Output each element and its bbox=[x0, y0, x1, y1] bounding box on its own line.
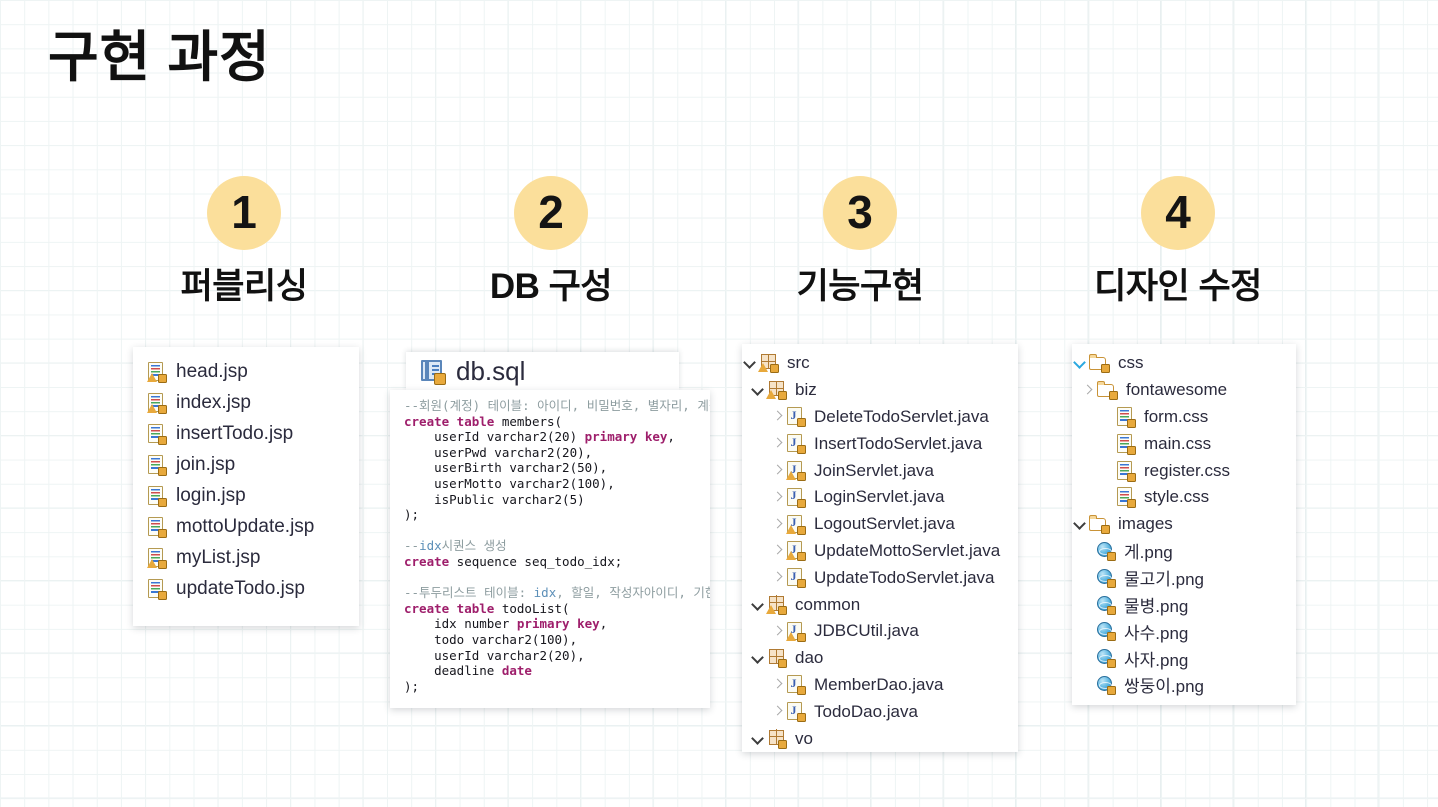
sql-code-line: userPwd varchar2(20), bbox=[404, 445, 710, 461]
sql-code-token: primary key bbox=[517, 616, 600, 631]
sql-code-token bbox=[404, 523, 412, 538]
sql-code-token: create table bbox=[404, 414, 494, 429]
step-badge-4: 4 bbox=[1141, 176, 1215, 250]
chevron-down-icon[interactable] bbox=[750, 650, 766, 666]
png-file-icon bbox=[1096, 648, 1116, 668]
sql-code-token: userId varchar2(20) bbox=[404, 429, 585, 444]
sql-code-line: deadline date bbox=[404, 663, 710, 679]
tree-item-label: MemberDao.java bbox=[814, 675, 943, 695]
tree-item-label: common bbox=[795, 595, 860, 615]
png-file-icon bbox=[1096, 541, 1116, 561]
sql-code-token: idx bbox=[534, 585, 557, 600]
png-file-icon bbox=[1096, 621, 1116, 641]
java-tree-row[interactable]: InsertTodoServlet.java bbox=[742, 430, 1018, 457]
java-file-icon bbox=[786, 406, 806, 427]
sql-code-line: userBirth varchar2(50), bbox=[404, 460, 710, 476]
jsp-file-name: myList.jsp bbox=[176, 547, 260, 569]
webapp-tree-row[interactable]: style.css bbox=[1072, 484, 1296, 511]
jsp-file-icon bbox=[147, 454, 167, 476]
step-badge-3: 3 bbox=[823, 176, 897, 250]
chevron-right-icon[interactable] bbox=[1080, 382, 1096, 398]
tree-item-label: css bbox=[1118, 353, 1144, 373]
webapp-tree-row[interactable]: 게.png bbox=[1072, 538, 1296, 565]
tree-item-label: DeleteTodoServlet.java bbox=[814, 407, 989, 427]
step-label-4: 디자인 수정 bbox=[1028, 258, 1328, 309]
tree-item-label: 물고기.png bbox=[1124, 565, 1204, 590]
sql-code-token: deadline bbox=[404, 663, 502, 678]
java-file-warning-icon bbox=[786, 540, 806, 561]
tree-item-label: form.css bbox=[1144, 407, 1208, 427]
sql-code-token: , 할일, 작성자아이디, 기한 bbox=[556, 585, 710, 600]
tree-item-label: biz bbox=[795, 380, 817, 400]
tree-item-label: UpdateTodoServlet.java bbox=[814, 568, 995, 588]
java-tree-row[interactable]: biz bbox=[742, 377, 1018, 404]
chevron-down-icon[interactable] bbox=[750, 597, 766, 613]
sql-code-token: idx bbox=[419, 538, 442, 553]
sql-code-token: --회원(계정) 테이블: 아이디, 비밀번호, 별자리, 계정 bbox=[404, 398, 710, 413]
jsp-file-icon bbox=[147, 485, 167, 507]
tree-item-label: JDBCUtil.java bbox=[814, 621, 919, 641]
sql-code-line: userId varchar2(20) primary key, bbox=[404, 429, 710, 445]
tree-item-label: UpdateMottoServlet.java bbox=[814, 541, 1000, 561]
no-chevron-icon bbox=[1100, 409, 1116, 425]
sql-code-block: --회원(계정) 테이블: 아이디, 비밀번호, 별자리, 계정create t… bbox=[404, 398, 710, 694]
chevron-right-icon[interactable] bbox=[770, 409, 786, 425]
webapp-tree-row[interactable]: 사수.png bbox=[1072, 618, 1296, 645]
sql-code-line: ); bbox=[404, 679, 710, 695]
jsp-file-row[interactable]: myList.jsp bbox=[133, 542, 359, 573]
sql-tab-title: db.sql bbox=[456, 356, 525, 387]
chevron-right-icon[interactable] bbox=[770, 543, 786, 559]
chevron-down-icon[interactable] bbox=[1072, 355, 1088, 371]
sql-code-line: --투두리스트 테이블: idx, 할일, 작성자아이디, 기한 bbox=[404, 585, 710, 601]
sql-code-token: --투두리스트 테이블: bbox=[404, 585, 534, 600]
package-icon bbox=[766, 729, 787, 749]
no-chevron-icon bbox=[1080, 650, 1096, 666]
chevron-right-icon[interactable] bbox=[770, 704, 786, 720]
step-label-1: 퍼블리싱 bbox=[94, 258, 394, 309]
step-header-1: 1 퍼블리싱 bbox=[94, 176, 394, 309]
no-chevron-icon bbox=[1100, 436, 1116, 452]
page-title: 구현 과정 bbox=[48, 26, 271, 89]
css-file-icon bbox=[1116, 406, 1136, 428]
no-chevron-icon bbox=[1100, 489, 1116, 505]
tree-item-label: style.css bbox=[1144, 487, 1209, 507]
java-tree-row[interactable]: TodoDao.java bbox=[742, 698, 1018, 725]
no-chevron-icon bbox=[1080, 623, 1096, 639]
sql-code-line: idx number primary key, bbox=[404, 616, 710, 632]
java-tree-row[interactable]: JDBCUtil.java bbox=[742, 618, 1018, 645]
sql-code-line: create table todoList( bbox=[404, 601, 710, 617]
java-tree-row[interactable]: src bbox=[742, 350, 1018, 377]
chevron-right-icon[interactable] bbox=[770, 463, 786, 479]
jsp-file-name: insertTodo.jsp bbox=[176, 423, 293, 445]
jsp-file-row[interactable]: updateTodo.jsp bbox=[133, 573, 359, 604]
sql-code-token: -- bbox=[404, 538, 419, 553]
step-label-2: DB 구성 bbox=[401, 258, 701, 309]
tree-item-label: LoginServlet.java bbox=[814, 487, 944, 507]
webapp-tree-row[interactable]: fontawesome bbox=[1072, 377, 1296, 404]
webapp-tree-row[interactable]: 쌍둥이.png bbox=[1072, 672, 1296, 699]
jsp-file-warning-icon bbox=[147, 392, 167, 414]
sql-code-line: isPublic varchar2(5) bbox=[404, 492, 710, 508]
tree-item-label: register.css bbox=[1144, 461, 1230, 481]
no-chevron-icon bbox=[1080, 570, 1096, 586]
jsp-file-icon bbox=[147, 578, 167, 600]
jsp-file-warning-icon bbox=[147, 547, 167, 569]
tree-item-label: vo bbox=[795, 729, 813, 749]
sql-file-icon bbox=[419, 358, 446, 385]
java-file-icon bbox=[786, 433, 806, 454]
sql-code-token: date bbox=[502, 663, 532, 678]
png-file-icon bbox=[1096, 568, 1116, 588]
sql-code-line: todo varchar2(100), bbox=[404, 632, 710, 648]
chevron-right-icon[interactable] bbox=[770, 516, 786, 532]
jsp-file-row[interactable]: mottoUpdate.jsp bbox=[133, 511, 359, 542]
tree-item-label: LogoutServlet.java bbox=[814, 514, 955, 534]
java-file-icon bbox=[786, 674, 806, 695]
sql-code-token: userPwd varchar2(20), bbox=[404, 445, 592, 460]
tree-item-label: 사수.png bbox=[1124, 619, 1188, 644]
java-tree-row[interactable]: vo bbox=[742, 725, 1018, 752]
package-warning-icon bbox=[766, 595, 787, 615]
java-file-icon bbox=[786, 701, 806, 722]
webapp-resource-tree-panel: cssfontawesomeform.cssmain.cssregister.c… bbox=[1072, 344, 1296, 705]
jsp-file-icon bbox=[147, 516, 167, 538]
jsp-file-row[interactable]: join.jsp bbox=[133, 449, 359, 480]
sql-code-token: userMotto varchar2(100), bbox=[404, 476, 615, 491]
step-header-3: 3 기능구현 bbox=[710, 176, 1010, 309]
java-tree-row[interactable]: UpdateMottoServlet.java bbox=[742, 538, 1018, 565]
sql-code-line: userId varchar2(20), bbox=[404, 648, 710, 664]
webapp-tree-row[interactable]: images bbox=[1072, 511, 1296, 538]
sql-code-token: todoList( bbox=[494, 601, 569, 616]
sql-code-token: todo varchar2(100), bbox=[404, 632, 577, 647]
sql-code-line: --idx시퀀스 생성 bbox=[404, 538, 710, 554]
sql-code-token: ); bbox=[404, 679, 419, 694]
java-file-icon bbox=[786, 567, 806, 588]
chevron-right-icon[interactable] bbox=[770, 623, 786, 639]
tree-item-label: images bbox=[1118, 514, 1173, 534]
jsp-file-name: updateTodo.jsp bbox=[176, 578, 305, 600]
no-chevron-icon bbox=[1080, 677, 1096, 693]
sql-code-token: ); bbox=[404, 507, 419, 522]
sql-code-token: userId varchar2(20), bbox=[404, 648, 585, 663]
jsp-file-row[interactable]: login.jsp bbox=[133, 480, 359, 511]
jsp-file-row[interactable]: insertTodo.jsp bbox=[133, 418, 359, 449]
tree-item-label: 사자.png bbox=[1124, 646, 1188, 671]
tree-item-label: 물병.png bbox=[1124, 592, 1188, 617]
sql-code-line bbox=[404, 523, 710, 539]
java-tree-row[interactable]: dao bbox=[742, 645, 1018, 672]
sql-code-line: --회원(계정) 테이블: 아이디, 비밀번호, 별자리, 계정 bbox=[404, 398, 710, 414]
sql-code-token: create bbox=[404, 554, 449, 569]
chevron-down-icon[interactable] bbox=[1072, 516, 1088, 532]
step-label-3: 기능구현 bbox=[710, 258, 1010, 309]
folder-icon bbox=[1096, 381, 1118, 400]
java-file-warning-icon bbox=[786, 514, 806, 535]
jsp-file-list-panel: head.jspindex.jspinsertTodo.jspjoin.jspl… bbox=[133, 347, 359, 626]
jsp-file-warning-icon bbox=[147, 361, 167, 383]
java-tree-row[interactable]: LogoutServlet.java bbox=[742, 511, 1018, 538]
webapp-tree-row[interactable]: 물고기.png bbox=[1072, 564, 1296, 591]
sql-code-line: userMotto varchar2(100), bbox=[404, 476, 710, 492]
png-file-icon bbox=[1096, 595, 1116, 615]
sql-code-token: , bbox=[600, 616, 608, 631]
css-file-icon bbox=[1116, 433, 1136, 455]
jsp-file-name: index.jsp bbox=[176, 392, 251, 414]
sql-code-token: idx number bbox=[404, 616, 517, 631]
jsp-file-name: mottoUpdate.jsp bbox=[176, 516, 314, 538]
chevron-right-icon[interactable] bbox=[770, 570, 786, 586]
chevron-right-icon[interactable] bbox=[770, 436, 786, 452]
sql-code-token: create table bbox=[404, 601, 494, 616]
java-tree-row[interactable]: LoginServlet.java bbox=[742, 484, 1018, 511]
sql-code-token: userBirth varchar2(50), bbox=[404, 460, 607, 475]
sql-code-panel: --회원(계정) 테이블: 아이디, 비밀번호, 별자리, 계정create t… bbox=[390, 390, 710, 708]
chevron-right-icon[interactable] bbox=[770, 677, 786, 693]
webapp-tree-row[interactable]: 사자.png bbox=[1072, 645, 1296, 672]
jsp-file-icon bbox=[147, 423, 167, 445]
package-warning-icon bbox=[758, 353, 779, 373]
step-badge-1: 1 bbox=[207, 176, 281, 250]
sql-editor-tab[interactable]: db.sql bbox=[406, 352, 679, 390]
step-header-4: 4 디자인 수정 bbox=[1028, 176, 1328, 309]
sql-code-line bbox=[404, 570, 710, 586]
package-warning-icon bbox=[766, 380, 787, 400]
java-tree-row[interactable]: JoinServlet.java bbox=[742, 457, 1018, 484]
sql-code-line: create sequence seq_todo_idx; bbox=[404, 554, 710, 570]
no-chevron-icon bbox=[1080, 597, 1096, 613]
java-file-warning-icon bbox=[786, 460, 806, 481]
sql-code-token: isPublic varchar2(5) bbox=[404, 492, 585, 507]
java-file-warning-icon bbox=[786, 621, 806, 642]
step-badge-2: 2 bbox=[514, 176, 588, 250]
chevron-down-icon[interactable] bbox=[750, 382, 766, 398]
tree-item-label: 쌍둥이.png bbox=[1124, 672, 1204, 697]
no-chevron-icon bbox=[1080, 543, 1096, 559]
webapp-tree-row[interactable]: register.css bbox=[1072, 457, 1296, 484]
webapp-tree-row[interactable]: main.css bbox=[1072, 430, 1296, 457]
java-tree-row[interactable]: DeleteTodoServlet.java bbox=[742, 404, 1018, 431]
java-file-icon bbox=[786, 487, 806, 508]
tree-item-label: TodoDao.java bbox=[814, 702, 918, 722]
css-file-icon bbox=[1116, 460, 1136, 482]
tree-item-label: InsertTodoServlet.java bbox=[814, 434, 982, 454]
chevron-down-icon[interactable] bbox=[742, 355, 758, 371]
chevron-right-icon[interactable] bbox=[770, 489, 786, 505]
sql-code-token: primary key bbox=[585, 429, 668, 444]
webapp-tree-row[interactable]: 물병.png bbox=[1072, 591, 1296, 618]
jsp-file-name: login.jsp bbox=[176, 485, 246, 507]
folder-icon bbox=[1088, 354, 1110, 373]
java-tree-row[interactable]: MemberDao.java bbox=[742, 672, 1018, 699]
sql-code-line: ); bbox=[404, 507, 710, 523]
java-package-tree-panel: srcbizDeleteTodoServlet.javaInsertTodoSe… bbox=[742, 344, 1018, 752]
sql-code-token: 시퀀스 생성 bbox=[442, 538, 507, 553]
jsp-file-name: join.jsp bbox=[176, 454, 235, 476]
webapp-tree-row[interactable]: form.css bbox=[1072, 404, 1296, 431]
tree-item-label: 게.png bbox=[1124, 538, 1173, 563]
java-tree-row[interactable]: common bbox=[742, 591, 1018, 618]
folder-icon bbox=[1088, 515, 1110, 534]
sql-code-token: sequence seq_todo_idx; bbox=[449, 554, 622, 569]
no-chevron-icon bbox=[1100, 463, 1116, 479]
jsp-file-row[interactable]: index.jsp bbox=[133, 387, 359, 418]
sql-code-token bbox=[404, 570, 412, 585]
jsp-file-row[interactable]: head.jsp bbox=[133, 356, 359, 387]
tree-item-label: JoinServlet.java bbox=[814, 461, 934, 481]
css-file-icon bbox=[1116, 486, 1136, 508]
package-icon bbox=[766, 648, 787, 668]
tree-item-label: fontawesome bbox=[1126, 380, 1227, 400]
sql-code-line: create table members( bbox=[404, 414, 710, 430]
tree-item-label: src bbox=[787, 353, 810, 373]
jsp-file-name: head.jsp bbox=[176, 361, 248, 383]
step-header-2: 2 DB 구성 bbox=[401, 176, 701, 309]
sql-code-token: members( bbox=[494, 414, 562, 429]
tree-item-label: main.css bbox=[1144, 434, 1211, 454]
sql-code-token: , bbox=[667, 429, 675, 444]
chevron-down-icon[interactable] bbox=[750, 731, 766, 747]
tree-item-label: dao bbox=[795, 648, 823, 668]
webapp-tree-row[interactable]: css bbox=[1072, 350, 1296, 377]
java-tree-row[interactable]: UpdateTodoServlet.java bbox=[742, 564, 1018, 591]
png-file-icon bbox=[1096, 675, 1116, 695]
